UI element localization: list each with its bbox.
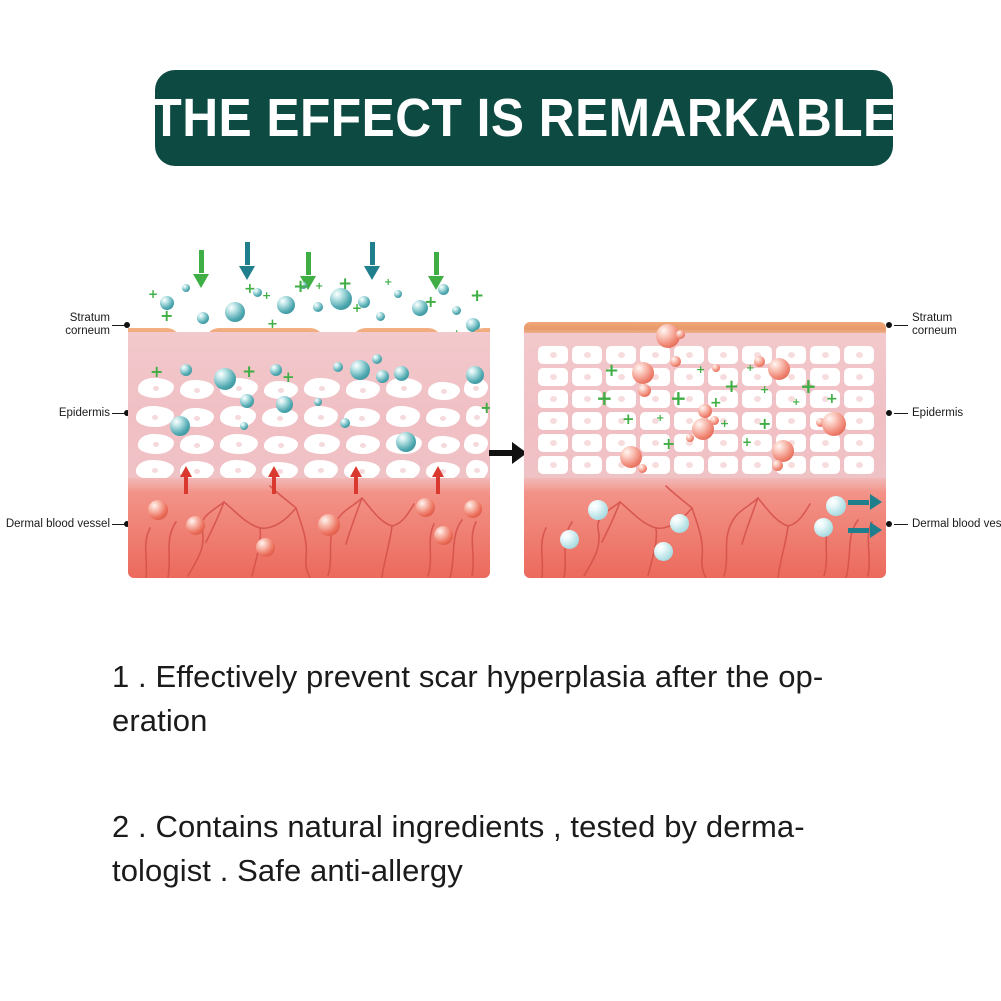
plus-icon: +: [470, 288, 484, 305]
skin-cell: [426, 408, 460, 427]
skin-cell: [674, 456, 704, 474]
skin-cell: [844, 390, 874, 408]
cleared-sphere: [560, 530, 579, 549]
plus-icon: +: [758, 416, 771, 432]
particle-sphere: [277, 296, 295, 314]
plus-icon: +: [792, 398, 800, 408]
skin-cell: [304, 406, 338, 427]
leader-dot-right-epidermis: [886, 410, 892, 416]
arrow-right-teal-1: [848, 494, 882, 510]
skin-cell: [428, 382, 460, 400]
callout-right-epidermis-line1: Epidermis: [912, 407, 963, 420]
skin-cell: [304, 460, 338, 480]
skin-cell: [844, 346, 874, 364]
arrow-down-green-1: [193, 250, 209, 288]
particle-sphere: [394, 366, 409, 381]
skin-diagram-area: Stratum corneum Epidermis Dermal blood v…: [0, 230, 1001, 610]
arrow-up-red-1: [180, 466, 192, 494]
repair-sphere: [712, 364, 720, 372]
skin-cell: [742, 456, 772, 474]
dermis-layer-after: [524, 478, 886, 578]
particle-sphere: [182, 284, 190, 292]
plus-icon: +: [480, 400, 490, 416]
arrow-right-teal-2: [848, 522, 882, 538]
particle-sphere: [170, 416, 190, 436]
plus-icon: +: [826, 392, 838, 406]
benefit-1-line-2: eration: [112, 699, 823, 743]
particle-sphere: [394, 290, 402, 298]
repair-sphere: [638, 464, 647, 473]
skin-cell: [538, 368, 568, 386]
callout-right-stratum-line2: corneum: [912, 325, 957, 338]
skin-cell: [708, 346, 738, 364]
arrow-up-red-2: [268, 466, 280, 494]
particle-sphere: [276, 396, 293, 413]
arrow-up-red-4: [432, 466, 444, 494]
particle-sphere: [314, 398, 322, 406]
repair-sphere: [772, 460, 783, 471]
plus-icon: +: [242, 364, 256, 381]
skin-cell: [386, 460, 420, 480]
plus-icon: +: [150, 364, 163, 380]
cleared-sphere: [826, 496, 846, 516]
skin-cell: [346, 380, 380, 399]
skin-cell: [264, 436, 298, 454]
callout-left-stratum-corneum: Stratum corneum: [2, 312, 110, 338]
benefit-2-line-2: tologist . Safe anti-allergy: [112, 849, 805, 893]
particle-sphere: [452, 306, 461, 315]
cleared-sphere: [814, 518, 833, 537]
repair-sphere: [754, 356, 765, 367]
skin-cell: [346, 435, 380, 454]
particle-sphere: [376, 370, 389, 383]
skin-cell: [466, 460, 488, 480]
arrow-up-red-3: [350, 466, 362, 494]
callout-left-epidermis-line1: Epidermis: [2, 407, 110, 420]
callout-left-stratum-line2: corneum: [2, 325, 110, 338]
plus-icon: +: [746, 364, 754, 374]
plus-icon: +: [424, 294, 437, 310]
plus-icon: +: [262, 290, 271, 301]
plus-icon: +: [742, 436, 752, 448]
cleared-sphere: [670, 514, 689, 533]
skin-cell: [136, 460, 174, 480]
skin-cell: [386, 406, 420, 427]
particle-sphere: [340, 418, 350, 428]
headline-text: THE EFFECT IS REMARKABLE: [151, 91, 896, 145]
repair-sphere: [638, 384, 651, 397]
skin-cell: [572, 456, 602, 474]
skin-cell: [844, 434, 874, 452]
headline-banner: THE EFFECT IS REMARKABLE: [155, 70, 893, 166]
plus-icon: +: [352, 302, 362, 314]
right-arrow-icon: [489, 442, 527, 464]
skin-cell: [464, 434, 488, 454]
skin-cell: [810, 434, 840, 452]
repair-sphere: [686, 434, 694, 442]
blood-cell-sphere: [256, 538, 275, 557]
plus-icon: +: [338, 276, 352, 293]
skin-cell: [220, 460, 256, 480]
skin-cell: [538, 390, 568, 408]
skin-cell: [220, 434, 258, 454]
skin-cell: [138, 434, 174, 454]
skin-cell: [538, 434, 568, 452]
callout-left-dermal-line1: Dermal blood vessel: [2, 518, 110, 531]
benefit-item-2: 2 . Contains natural ingredients , teste…: [112, 805, 805, 893]
cleared-sphere: [588, 500, 608, 520]
arrow-down-teal-2: [364, 242, 380, 280]
plus-icon: +: [244, 282, 256, 296]
plus-icon: +: [656, 414, 664, 424]
plus-icon: +: [720, 418, 729, 429]
blood-cell-sphere: [464, 500, 482, 518]
callout-right-epidermis: Epidermis: [912, 407, 963, 420]
plus-icon: +: [148, 288, 158, 300]
plus-icon: +: [710, 396, 722, 410]
skin-cell: [538, 412, 568, 430]
blood-cell-sphere: [186, 516, 205, 535]
skin-cell: [844, 412, 874, 430]
plus-icon: +: [596, 388, 613, 408]
skin-panel-after: + + + + + + + + + + + + + + + + +: [524, 322, 886, 578]
plus-icon: +: [315, 282, 323, 292]
skin-cell: [708, 434, 738, 452]
skin-cell: [572, 346, 602, 364]
skin-cell: [708, 456, 738, 474]
callout-left-stratum-line1: Stratum: [2, 312, 110, 325]
repair-sphere: [768, 358, 790, 380]
callout-left-epidermis: Epidermis: [2, 407, 110, 420]
plus-icon: +: [670, 388, 687, 408]
plus-icon: +: [384, 278, 392, 288]
plus-icon: +: [282, 370, 295, 385]
plus-icon: +: [724, 378, 739, 396]
leader-right-dermal: [894, 524, 908, 525]
repair-sphere: [710, 416, 719, 425]
particle-sphere: [240, 422, 248, 430]
callout-right-stratum-line1: Stratum: [912, 312, 957, 325]
epidermis-layer-before: [128, 332, 490, 478]
skin-cell: [810, 456, 840, 474]
particle-sphere: [214, 368, 236, 390]
skin-cell: [180, 435, 214, 454]
leader-dot-right-stratum: [886, 322, 892, 328]
particle-sphere: [313, 302, 323, 312]
particle-sphere: [350, 360, 370, 380]
particle-sphere: [225, 302, 245, 322]
repair-sphere: [632, 362, 654, 384]
plus-icon: +: [760, 384, 769, 395]
repair-sphere: [676, 330, 685, 339]
particle-sphere: [180, 364, 192, 376]
leader-dot-right-dermal: [886, 521, 892, 527]
blood-cell-sphere: [416, 498, 435, 517]
skin-cell: [386, 378, 422, 398]
skin-cell: [538, 346, 568, 364]
arrow-down-teal-1: [239, 242, 255, 280]
skin-cell: [572, 412, 602, 430]
skin-cell: [136, 406, 174, 427]
blood-cell-sphere: [318, 514, 340, 536]
plus-icon: +: [662, 436, 675, 452]
particle-sphere: [372, 354, 382, 364]
skin-cell: [844, 456, 874, 474]
plus-icon: +: [293, 278, 308, 296]
callout-left-dermal-vessel: Dermal blood vessel: [2, 518, 110, 531]
blood-cell-sphere: [434, 526, 453, 545]
benefit-2-line-1: 2 . Contains natural ingredients , teste…: [112, 805, 805, 849]
plus-icon: +: [800, 376, 817, 396]
skin-cell: [180, 380, 214, 399]
skin-cell: [138, 378, 174, 398]
callout-right-dermal-line1: Dermal blood vess: [912, 518, 1001, 531]
skin-cell: [810, 346, 840, 364]
cleared-sphere: [654, 542, 673, 561]
benefit-1-line-1: 1 . Effectively prevent scar hyperplasia…: [112, 655, 823, 699]
plus-icon: +: [604, 362, 619, 380]
particle-sphere: [466, 366, 484, 384]
skin-cell: [572, 434, 602, 452]
leader-right-stratum: [894, 325, 908, 326]
blood-cell-sphere: [148, 500, 168, 520]
particle-sphere: [396, 432, 416, 452]
particle-sphere: [240, 394, 254, 408]
leader-right-epidermis: [894, 413, 908, 414]
skin-cell: [776, 412, 806, 430]
skin-panel-before: + + + +: [128, 322, 490, 578]
repair-sphere: [670, 356, 681, 367]
repair-sphere: [822, 412, 846, 436]
callout-right-stratum-corneum: Stratum corneum: [912, 312, 957, 338]
skin-cell: [538, 456, 568, 474]
particle-sphere: [333, 362, 343, 372]
callout-right-dermal-vessel: Dermal blood vess: [912, 518, 1001, 531]
skin-cell: [220, 406, 256, 427]
particle-sphere: [438, 284, 449, 295]
particle-sphere: [270, 364, 282, 376]
plus-icon: +: [696, 364, 705, 375]
skin-cell: [844, 368, 874, 386]
skin-cell: [572, 368, 602, 386]
skin-cell: [304, 378, 340, 398]
skin-cell: [640, 412, 670, 430]
repair-sphere: [772, 440, 794, 462]
skin-cell: [304, 434, 340, 454]
skin-cell: [428, 436, 460, 454]
benefit-item-1: 1 . Effectively prevent scar hyperplasia…: [112, 655, 823, 743]
particle-sphere: [376, 312, 385, 321]
plus-icon: +: [622, 412, 635, 427]
